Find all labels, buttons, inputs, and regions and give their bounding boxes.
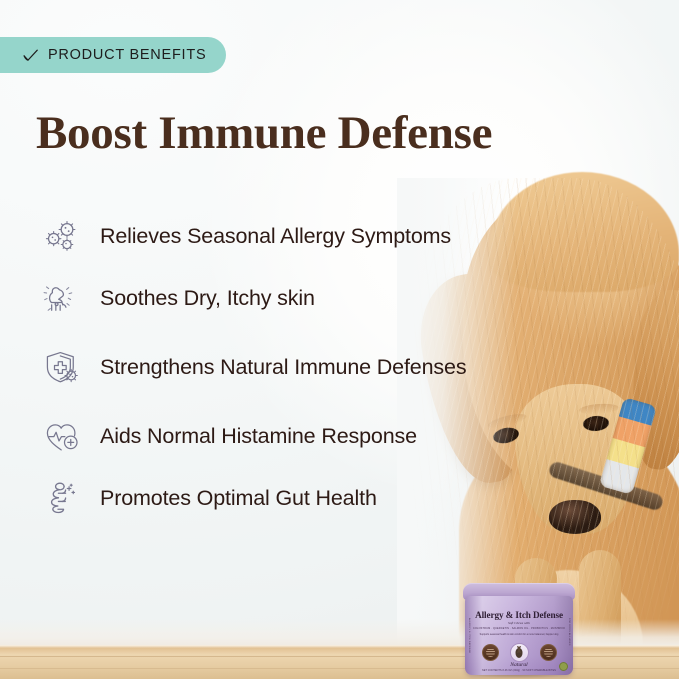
benefit-item: Relieves Seasonal Allergy Symptoms — [40, 206, 580, 268]
shield-immune-icon — [40, 346, 84, 390]
content-layer: PRODUCT BENEFITS Boost Immune Defense — [0, 0, 679, 679]
benefit-label: Promotes Optimal Gut Health — [100, 486, 377, 511]
scratching-dog-icon — [40, 277, 84, 321]
page-title: Boost Immune Defense — [36, 110, 492, 157]
benefit-item: Strengthens Natural Immune Defenses — [40, 330, 580, 406]
product-benefits-graphic: ALLERGY & ITCH DEFENSE FOR DOGS ALL AGES… — [0, 0, 679, 679]
benefit-label: Aids Normal Histamine Response — [100, 424, 417, 449]
benefit-item: Promotes Optimal Gut Health — [40, 468, 580, 530]
heart-pulse-icon — [40, 415, 84, 459]
badge-label: PRODUCT BENEFITS — [48, 47, 206, 63]
benefit-label: Strengthens Natural Immune Defenses — [100, 355, 466, 380]
allergen-particles-icon — [40, 215, 84, 259]
benefit-label: Soothes Dry, Itchy skin — [100, 286, 315, 311]
check-icon — [22, 47, 39, 64]
benefits-list: Relieves Seasonal Allergy Symptoms — [40, 206, 580, 530]
benefit-label: Relieves Seasonal Allergy Symptoms — [100, 224, 451, 249]
benefit-item: Aids Normal Histamine Response — [40, 406, 580, 468]
product-benefits-badge: PRODUCT BENEFITS — [0, 37, 226, 73]
benefit-item: Soothes Dry, Itchy skin — [40, 268, 580, 330]
gut-health-icon — [40, 477, 84, 521]
